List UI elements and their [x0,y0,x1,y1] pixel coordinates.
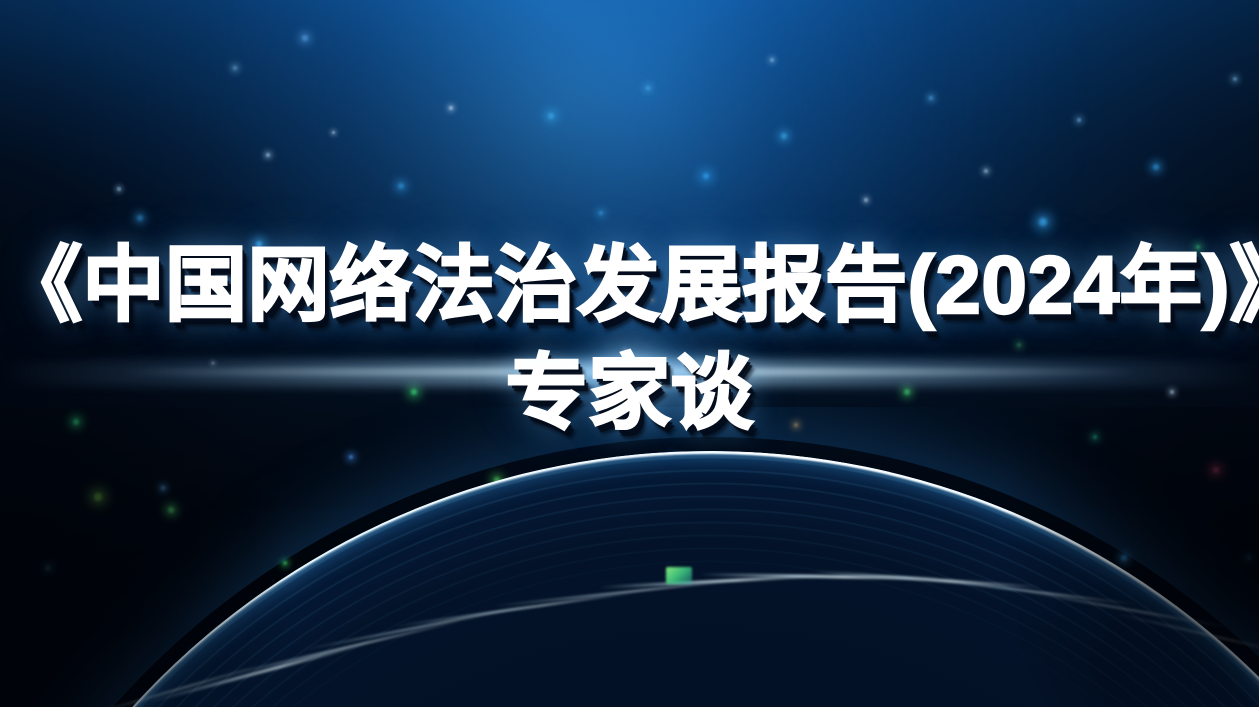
digital-earth-graphic [0,407,1259,707]
star-particle [1077,118,1081,122]
globe-surface-streak [393,591,641,628]
star-particle [929,96,933,100]
poster-title-line-1: 《中国网络法治发展报告(2024年)》 [0,243,1259,329]
star-particle [398,183,404,189]
globe-shadow-right [899,407,1259,707]
star-particle [1153,164,1159,170]
star-particle [266,153,270,157]
star-particle [117,187,120,190]
star-particle [1039,218,1046,225]
star-particle [449,106,452,109]
star-particle [332,131,335,134]
star-particle [137,215,142,220]
globe-green-accent-block [666,567,692,584]
poster-title-block: 《中国网络法治发展报告(2024年)》 专家谈 [0,243,1259,437]
star-particle [984,169,988,173]
star-particle [770,58,773,61]
star-particle [703,173,710,180]
star-particle [548,113,554,119]
star-particle [233,66,237,70]
globe-shadow-left [0,407,420,707]
star-particle [302,35,307,40]
star-particle [646,86,650,90]
star-particle [781,133,786,138]
poster-title-line-2: 专家谈 [0,351,1259,437]
poster-canvas: 《中国网络法治发展报告(2024年)》 专家谈 [0,0,1259,707]
star-particle [864,198,867,201]
star-particle [1233,77,1237,81]
star-particle [599,211,604,216]
